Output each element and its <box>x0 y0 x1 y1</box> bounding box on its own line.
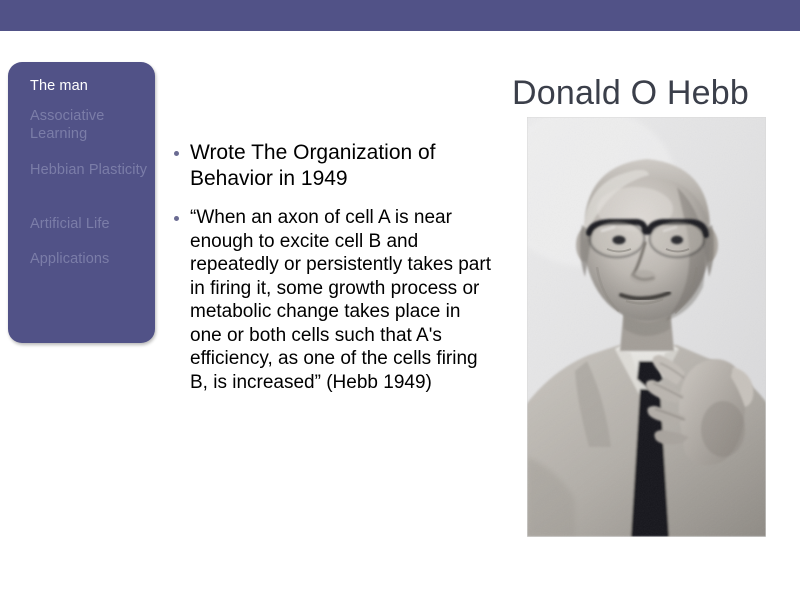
bullet-dot-icon <box>174 151 179 156</box>
sidebar-item-hebbian-plasticity[interactable]: Hebbian Plasticity <box>30 161 150 179</box>
bullet-item: “When an axon of cell A is near enough t… <box>172 206 492 394</box>
bullet-dot-icon <box>174 216 179 221</box>
sidebar-item-applications[interactable]: Applications <box>30 250 150 268</box>
sidebar-item-artificial-life[interactable]: Artificial Life <box>30 215 150 233</box>
bullet-text: Wrote The Organization of Behavior in 19… <box>190 141 436 190</box>
sidebar-item-the-man[interactable]: The man <box>30 77 150 95</box>
bullet-text: “When an axon of cell A is near enough t… <box>190 207 491 393</box>
sidebar-item-associative-learning[interactable]: Associative Learning <box>30 107 150 143</box>
portrait-illustration <box>527 117 766 537</box>
sidebar-nav: The man Associative Learning Hebbian Pla… <box>8 62 155 343</box>
portrait-photo <box>527 117 766 537</box>
bullet-item: Wrote The Organization of Behavior in 19… <box>172 140 492 192</box>
bullet-list: Wrote The Organization of Behavior in 19… <box>172 140 492 394</box>
top-banner <box>0 0 800 31</box>
page-title: Donald O Hebb <box>512 73 749 113</box>
